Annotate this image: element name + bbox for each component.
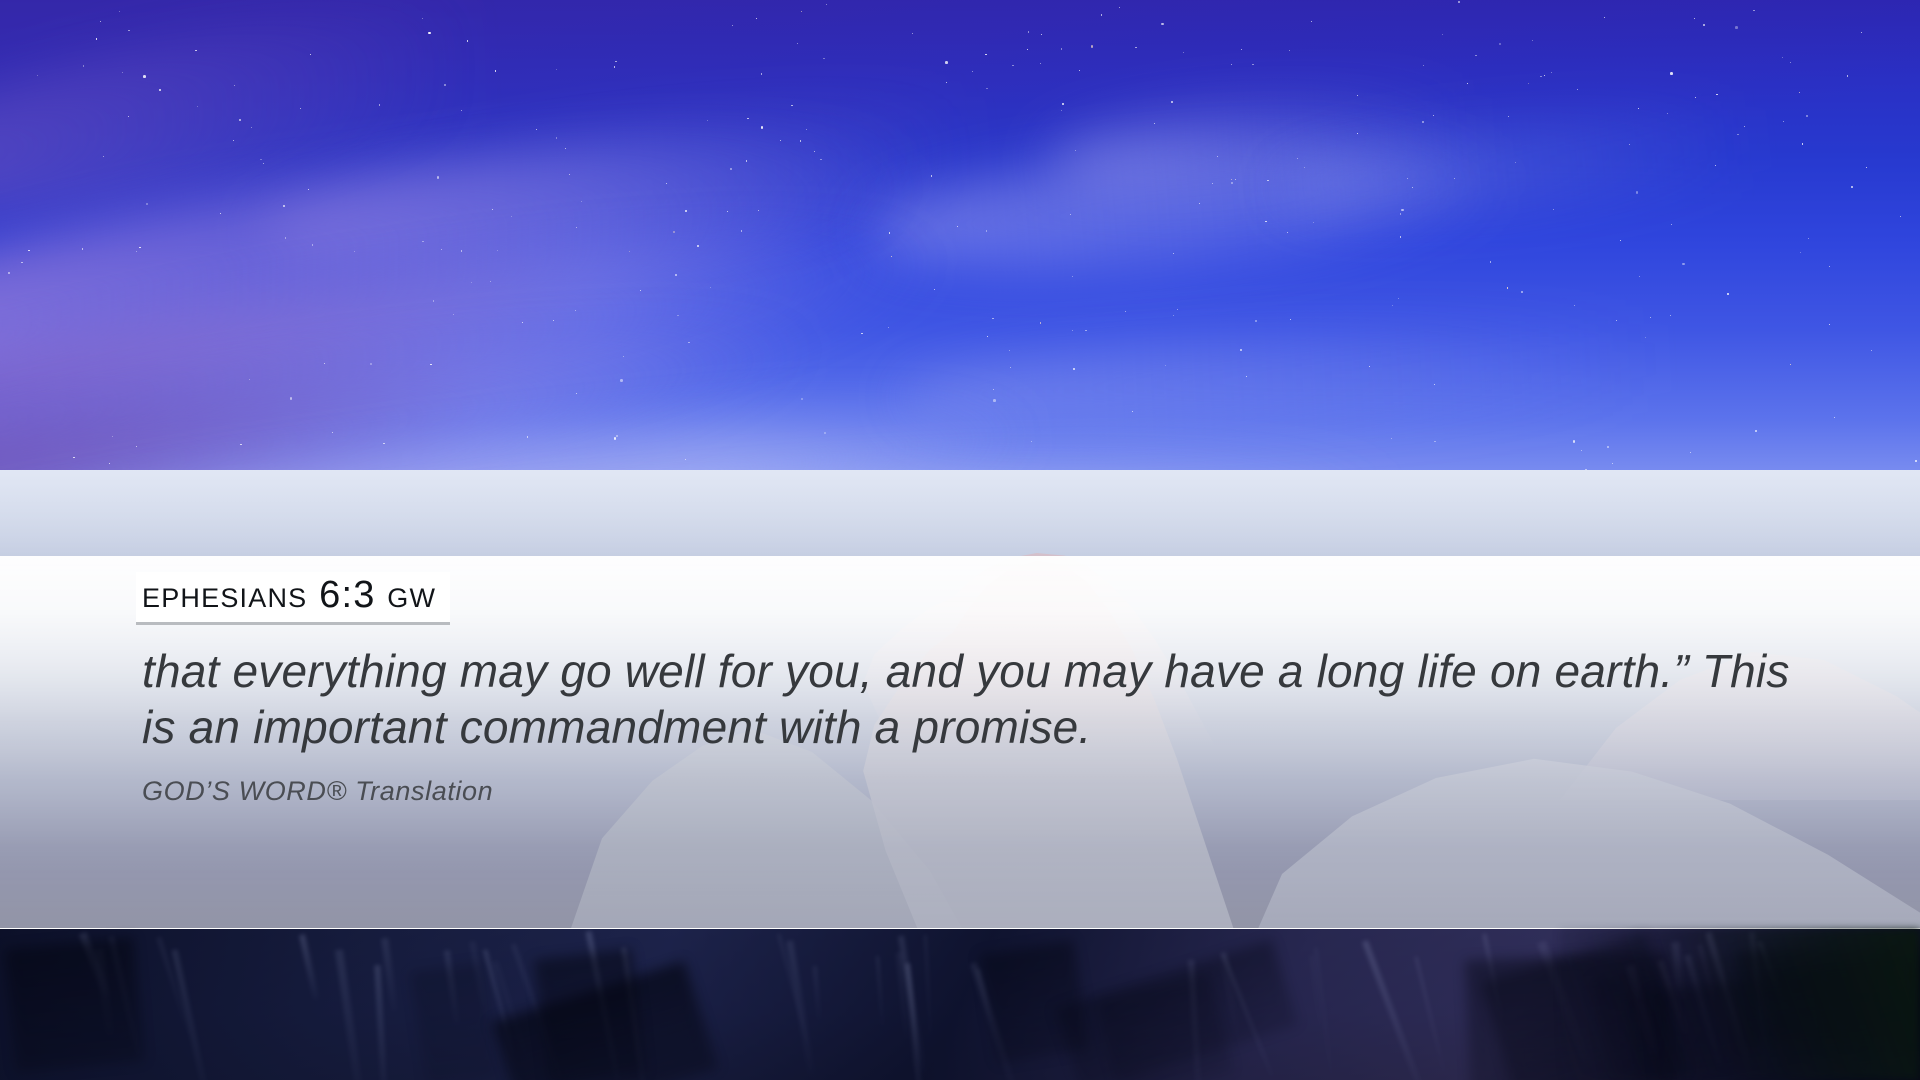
star — [1241, 49, 1242, 50]
star — [615, 61, 617, 63]
star — [1540, 76, 1541, 77]
star — [1783, 121, 1784, 122]
star — [1607, 446, 1609, 448]
star — [801, 11, 802, 12]
star — [234, 85, 235, 86]
star — [290, 397, 293, 400]
star — [1782, 57, 1783, 58]
star — [1028, 31, 1030, 33]
rock-shadow — [1055, 940, 1298, 1080]
star — [1246, 376, 1247, 377]
star — [83, 65, 85, 67]
star — [522, 322, 523, 323]
star — [354, 251, 355, 252]
star — [1070, 214, 1071, 215]
star — [1401, 209, 1404, 212]
star — [128, 30, 129, 31]
star — [312, 244, 313, 245]
star — [616, 435, 617, 436]
star — [1737, 134, 1738, 135]
star — [1433, 115, 1434, 116]
star — [1802, 143, 1803, 144]
star — [1551, 72, 1552, 73]
star — [780, 140, 781, 141]
star — [826, 4, 827, 5]
star — [614, 66, 615, 67]
star — [527, 436, 528, 437]
star — [453, 314, 454, 315]
star — [490, 281, 491, 282]
star — [1735, 26, 1738, 29]
star — [556, 137, 558, 139]
star — [675, 274, 677, 276]
star — [1490, 261, 1491, 262]
star — [1434, 384, 1435, 385]
star — [1027, 49, 1028, 50]
star — [820, 159, 821, 160]
verse-wallpaper: Ephesians 6:3 GW that everything may go … — [0, 0, 1920, 1080]
star — [1072, 276, 1073, 277]
star — [1581, 450, 1582, 451]
star — [370, 363, 372, 365]
star — [685, 459, 686, 460]
star — [957, 226, 958, 227]
star — [383, 443, 384, 444]
star — [1072, 330, 1073, 331]
star — [433, 300, 434, 301]
star — [122, 72, 123, 73]
star — [1620, 240, 1621, 241]
star — [1553, 209, 1554, 210]
star — [379, 104, 381, 106]
star — [1173, 315, 1174, 316]
star — [1357, 133, 1358, 134]
star — [1391, 438, 1392, 439]
star — [1694, 18, 1695, 19]
star — [1400, 213, 1401, 214]
star — [300, 108, 301, 109]
star — [1040, 63, 1041, 64]
star — [1012, 65, 1013, 66]
star — [1265, 221, 1266, 222]
star — [239, 119, 242, 122]
star — [1231, 182, 1233, 184]
star — [310, 54, 311, 55]
star — [495, 70, 496, 71]
star — [1171, 101, 1173, 103]
star — [1727, 293, 1729, 295]
star — [756, 18, 757, 19]
star — [1091, 45, 1094, 48]
star — [1434, 441, 1435, 442]
star — [1079, 70, 1080, 71]
star — [1650, 317, 1651, 318]
star — [1412, 187, 1413, 188]
star — [37, 75, 38, 76]
star — [1499, 43, 1501, 45]
rock-striation — [374, 965, 387, 1080]
star — [21, 262, 22, 263]
star — [688, 342, 689, 343]
star — [1062, 103, 1064, 105]
star — [677, 315, 678, 316]
star — [1311, 21, 1312, 22]
star — [987, 336, 988, 337]
star — [758, 210, 759, 211]
rock-striation — [813, 966, 821, 1021]
star — [1800, 252, 1801, 253]
star — [285, 237, 287, 239]
star — [761, 73, 762, 74]
star — [1645, 337, 1646, 338]
rock-striation — [172, 949, 211, 1080]
star — [109, 463, 110, 464]
rock-striation — [335, 949, 365, 1080]
star — [1829, 266, 1830, 267]
star — [1231, 179, 1232, 180]
star — [912, 33, 913, 34]
star — [422, 241, 424, 243]
star — [1515, 162, 1516, 163]
star — [240, 444, 241, 445]
star — [1703, 24, 1704, 25]
star — [823, 58, 824, 59]
star — [553, 320, 554, 321]
star — [1442, 34, 1443, 35]
rock-striation — [299, 934, 319, 1000]
star — [82, 248, 83, 249]
star — [461, 250, 462, 251]
star — [1670, 72, 1673, 75]
star — [139, 247, 141, 249]
star — [437, 176, 440, 179]
star — [467, 40, 468, 41]
star — [565, 148, 566, 149]
star — [1829, 324, 1830, 325]
star — [422, 18, 423, 19]
star — [986, 88, 987, 89]
star — [136, 446, 137, 447]
star — [1231, 64, 1232, 65]
star — [1161, 23, 1164, 26]
star — [1040, 322, 1041, 323]
star — [461, 110, 462, 111]
star — [1009, 350, 1010, 351]
star — [1695, 97, 1696, 98]
star — [946, 82, 947, 83]
star — [136, 251, 137, 252]
star — [1475, 55, 1476, 56]
star — [747, 118, 748, 119]
star — [1454, 178, 1455, 179]
star — [1755, 430, 1757, 432]
star — [536, 129, 537, 130]
foreground-trees — [1560, 929, 1920, 1080]
star — [697, 245, 699, 247]
star — [103, 156, 104, 157]
star — [1357, 95, 1358, 96]
star — [260, 159, 261, 160]
star — [159, 89, 161, 91]
star — [308, 189, 309, 190]
star — [1715, 165, 1716, 166]
star — [1629, 144, 1630, 145]
star — [986, 230, 987, 231]
star — [741, 230, 742, 231]
star — [100, 21, 101, 22]
star — [1073, 368, 1075, 370]
star — [112, 436, 113, 437]
star — [806, 129, 807, 130]
star — [1670, 315, 1671, 316]
star — [1101, 14, 1103, 16]
star — [732, 25, 733, 26]
star — [1085, 330, 1086, 331]
star — [8, 272, 10, 274]
star — [1790, 62, 1791, 63]
star — [430, 364, 432, 366]
star — [1690, 452, 1691, 453]
star — [1297, 158, 1298, 159]
star — [143, 75, 146, 78]
star — [1808, 238, 1809, 239]
star — [746, 160, 748, 162]
star — [324, 363, 325, 364]
star — [1061, 110, 1062, 111]
star — [1671, 224, 1672, 225]
star — [614, 437, 617, 440]
star — [891, 256, 892, 257]
star — [1573, 440, 1576, 443]
star — [1217, 156, 1218, 157]
star — [1422, 121, 1424, 123]
star — [1252, 64, 1253, 65]
star — [1744, 126, 1745, 127]
star — [1031, 441, 1032, 442]
star — [945, 61, 948, 64]
star — [623, 356, 624, 357]
star — [889, 232, 890, 233]
star — [1508, 116, 1509, 117]
star — [993, 389, 994, 390]
star — [620, 379, 623, 382]
star — [1423, 65, 1424, 66]
star — [1467, 83, 1468, 84]
rock-striation — [381, 938, 398, 1012]
star — [1173, 253, 1174, 254]
star — [1753, 10, 1754, 11]
star — [992, 318, 993, 319]
star — [428, 32, 431, 35]
star — [233, 140, 234, 141]
star — [119, 11, 120, 12]
star — [791, 105, 792, 106]
star — [1866, 167, 1867, 168]
star — [1861, 32, 1862, 33]
star — [685, 210, 687, 212]
star — [1639, 276, 1640, 277]
star — [934, 289, 935, 290]
rock-striation — [924, 935, 931, 1038]
star — [1165, 365, 1166, 366]
star — [761, 126, 764, 129]
star — [581, 201, 582, 202]
star — [1287, 232, 1288, 233]
star — [727, 211, 728, 212]
star — [511, 216, 512, 217]
star — [666, 183, 667, 184]
star — [1604, 17, 1605, 18]
star — [814, 151, 815, 152]
star — [576, 393, 577, 394]
star — [1407, 178, 1408, 179]
star — [629, 251, 630, 252]
star — [1806, 115, 1809, 118]
star — [1847, 75, 1849, 77]
star — [1400, 236, 1401, 237]
star — [985, 54, 987, 56]
star — [96, 38, 97, 39]
star — [1235, 179, 1236, 180]
star — [640, 290, 641, 291]
star — [1532, 40, 1533, 41]
star — [1199, 203, 1200, 204]
star — [1521, 291, 1523, 293]
star — [1915, 460, 1916, 461]
star — [1638, 108, 1639, 109]
star — [1289, 50, 1290, 51]
verse-translation-credit: GOD’S WORD® Translation — [142, 776, 1842, 807]
star — [797, 43, 798, 44]
star — [710, 287, 711, 288]
star — [931, 175, 932, 176]
star — [800, 140, 801, 141]
star — [556, 69, 557, 70]
star — [1799, 92, 1800, 93]
star — [1369, 366, 1370, 367]
star — [1125, 311, 1126, 312]
star — [1851, 186, 1853, 188]
star — [73, 457, 75, 459]
star — [1183, 52, 1184, 53]
rock-striation — [1362, 940, 1424, 1080]
star — [993, 399, 996, 402]
star — [1616, 320, 1617, 321]
star — [1900, 216, 1901, 217]
verse-overlay-panel: Ephesians 6:3 GW that everything may go … — [0, 556, 1920, 930]
star — [1398, 298, 1399, 299]
star — [1061, 48, 1062, 49]
star — [1716, 94, 1717, 95]
star — [1132, 411, 1133, 412]
star — [1290, 319, 1291, 320]
star — [283, 205, 285, 207]
star — [824, 432, 826, 434]
star — [1119, 7, 1120, 8]
star — [569, 174, 570, 175]
star — [1240, 349, 1242, 351]
star — [220, 213, 221, 214]
star — [1544, 75, 1545, 76]
star — [195, 50, 196, 51]
star — [1304, 167, 1305, 168]
star — [1871, 350, 1872, 351]
star — [575, 310, 576, 311]
star — [492, 209, 493, 210]
star — [1834, 417, 1835, 418]
verse-content: Ephesians 6:3 GW that everything may go … — [142, 572, 1842, 807]
star — [263, 163, 264, 164]
star — [1507, 287, 1508, 288]
star — [1154, 123, 1155, 124]
star — [1267, 180, 1268, 181]
star — [332, 432, 333, 433]
star — [1612, 463, 1613, 464]
star — [1577, 89, 1578, 90]
star — [1528, 83, 1529, 84]
star — [1458, 1, 1460, 3]
star — [1212, 183, 1213, 184]
star — [444, 84, 446, 86]
star — [707, 120, 708, 121]
star — [730, 168, 732, 170]
star — [128, 116, 129, 117]
star — [197, 106, 198, 107]
star — [471, 282, 472, 283]
star — [1790, 364, 1791, 365]
rock-striation — [1415, 956, 1445, 1072]
star — [28, 250, 29, 251]
star — [1392, 305, 1393, 306]
star — [888, 327, 889, 328]
rock-shadow — [410, 963, 497, 1080]
star — [972, 71, 973, 72]
rock-shadow — [5, 937, 145, 1072]
star — [1682, 263, 1685, 266]
star — [1636, 191, 1639, 194]
star — [861, 333, 862, 334]
rock-shadow — [534, 949, 646, 1080]
verse-body-text: that everything may go well for you, and… — [142, 643, 1802, 756]
star — [1075, 150, 1076, 151]
star — [1313, 222, 1314, 223]
verse-reference: Ephesians 6:3 GW — [136, 572, 450, 625]
rock-striation — [786, 940, 815, 1074]
star — [146, 203, 148, 205]
star — [1135, 47, 1136, 48]
star — [1255, 320, 1257, 322]
star — [1010, 367, 1011, 368]
star — [1041, 34, 1042, 35]
star — [251, 127, 252, 128]
star — [1667, 113, 1668, 114]
star — [801, 398, 803, 400]
star — [673, 231, 675, 233]
star — [497, 250, 498, 251]
star — [249, 379, 250, 380]
star — [441, 249, 442, 250]
star — [1574, 305, 1575, 306]
star — [1177, 309, 1178, 310]
star — [576, 227, 577, 228]
rock-striation — [876, 956, 883, 1027]
